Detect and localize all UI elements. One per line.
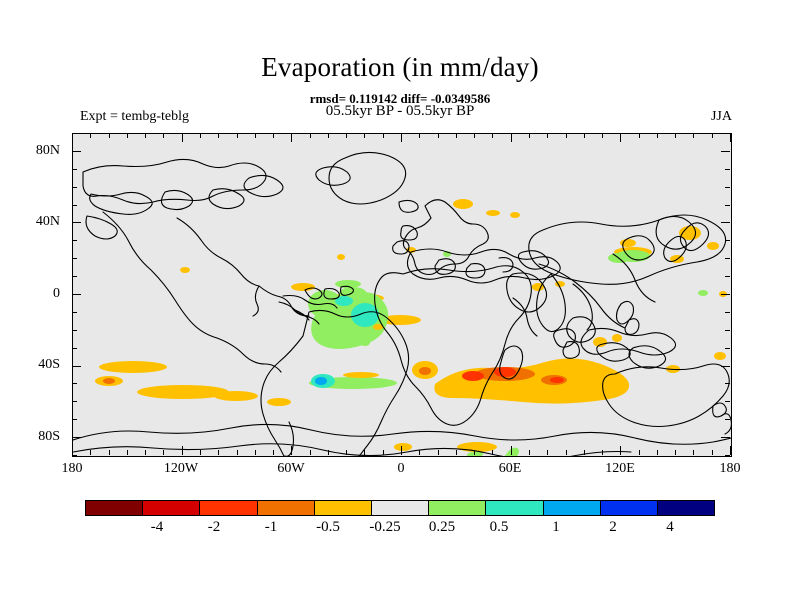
colorbar-segment-1 [142, 501, 199, 515]
colorbar-segment-5 [371, 501, 428, 515]
colorbar-tick--025: -0.25 [355, 519, 415, 535]
ytick--90 [72, 455, 77, 456]
xtick--150 [127, 450, 128, 455]
xtick-top--10 [383, 133, 384, 138]
ytick-right-30 [725, 240, 730, 241]
ytick-right--40 [721, 366, 730, 367]
colorbar-segment-7 [485, 501, 542, 515]
ytick-label-40s: 40S [14, 358, 60, 372]
ytick-80 [72, 151, 81, 152]
xtick-label-0: 0 [366, 462, 436, 476]
ytick--50 [72, 383, 77, 384]
xtick-140 [657, 450, 658, 455]
xtick-30 [456, 450, 457, 455]
ytick-right--30 [725, 348, 730, 349]
xtick-top--90 [237, 133, 238, 138]
xtick-top--100 [218, 133, 219, 138]
xtick-top-170 [712, 133, 713, 138]
xtick--10 [383, 450, 384, 455]
xtick-10 [419, 450, 420, 455]
ytick-label-80s: 80S [14, 430, 60, 444]
colorbar-tick--05: -0.5 [298, 519, 358, 535]
xtick-110 [602, 450, 603, 455]
ytick-right-10 [725, 276, 730, 277]
ytick-60 [72, 187, 77, 188]
xtick-top--160 [109, 133, 110, 138]
ytick-right-80 [721, 151, 730, 152]
world-map [73, 134, 731, 456]
xtick-180 [730, 446, 731, 455]
ytick--20 [72, 330, 77, 331]
ytick-right--80 [721, 437, 730, 438]
xtick-50 [492, 450, 493, 455]
ytick--10 [72, 312, 77, 313]
xtick-top--170 [90, 133, 91, 138]
xtick-130 [639, 450, 640, 455]
xtick--160 [109, 450, 110, 455]
xtick-top--110 [200, 133, 201, 138]
ytick-70 [72, 169, 77, 170]
xtick-top-0 [401, 133, 402, 142]
xtick-top-130 [639, 133, 640, 138]
ytick--60 [72, 401, 77, 402]
xtick-60 [511, 446, 512, 455]
colorbar-tick--4: -4 [127, 519, 187, 535]
xtick-top--120 [182, 133, 183, 142]
xtick--50 [310, 450, 311, 455]
ytick-20 [72, 258, 77, 259]
colorbar-segment-2 [199, 501, 256, 515]
colorbar-segment-4 [314, 501, 371, 515]
colorbar-segment-10 [657, 501, 714, 515]
xtick-top-90 [566, 133, 567, 138]
ytick-right-50 [725, 205, 730, 206]
ytick-right-20 [725, 258, 730, 259]
xtick-top-110 [602, 133, 603, 138]
xtick-70 [529, 450, 530, 455]
map-plot-area [72, 133, 732, 457]
page-title: Evaporation (in mm/day) [0, 52, 800, 83]
ytick-30 [72, 240, 77, 241]
xtick-top-120 [620, 133, 621, 142]
xtick-top-140 [657, 133, 658, 138]
xtick--30 [346, 450, 347, 455]
colorbar-tick-05: 0.5 [469, 519, 529, 535]
xtick-top-70 [529, 133, 530, 138]
xtick-top-40 [474, 133, 475, 138]
ytick-right--70 [725, 419, 730, 420]
xtick--120 [182, 446, 183, 455]
xtick-top--40 [328, 133, 329, 138]
ytick-label-0: 0 [14, 287, 60, 301]
xtick--100 [218, 450, 219, 455]
xtick-80 [547, 450, 548, 455]
xtick-top-30 [456, 133, 457, 138]
colorbar-tick-025: 0.25 [412, 519, 472, 535]
xtick-top--20 [364, 133, 365, 138]
xtick--140 [145, 450, 146, 455]
xtick-top--140 [145, 133, 146, 138]
xtick-top--60 [291, 133, 292, 142]
xtick--70 [273, 450, 274, 455]
ytick-right--10 [725, 312, 730, 313]
colorbar-segment-0 [86, 501, 142, 515]
ytick-right--20 [725, 330, 730, 331]
xtick-40 [474, 450, 475, 455]
xtick-top-180 [730, 133, 731, 142]
ytick-right-70 [725, 169, 730, 170]
colorbar-tick--1: -1 [241, 519, 301, 535]
xtick--40 [328, 450, 329, 455]
xtick-top-60 [511, 133, 512, 142]
xtick-top--70 [273, 133, 274, 138]
colorbar-segment-8 [543, 501, 600, 515]
xtick-top--180 [72, 133, 73, 142]
ytick-right-0 [721, 294, 730, 295]
xtick--20 [364, 450, 365, 455]
xtick-top--80 [255, 133, 256, 138]
colorbar-segment-3 [257, 501, 314, 515]
xtick--110 [200, 450, 201, 455]
ytick-10 [72, 276, 77, 277]
xtick-label-60w: 60W [256, 462, 326, 476]
ytick-90 [72, 133, 77, 134]
ytick-0 [72, 294, 81, 295]
xtick-170 [712, 450, 713, 455]
ytick-right-90 [725, 133, 730, 134]
ytick-40 [72, 222, 81, 223]
xtick--180 [72, 446, 73, 455]
xtick-label-60e: 60E [475, 462, 545, 476]
experiment-label: Expt = tembg-teblg [80, 109, 189, 125]
xtick-20 [438, 450, 439, 455]
ytick-right--90 [725, 455, 730, 456]
ytick-right-60 [725, 187, 730, 188]
xtick-label-180e: 180 [695, 462, 765, 476]
season-label: JJA [711, 109, 732, 125]
xtick-label-120w: 120W [146, 462, 216, 476]
ytick-label-40n: 40N [14, 215, 60, 229]
ytick--80 [72, 437, 81, 438]
xtick-top--30 [346, 133, 347, 138]
xtick-label-180w: 180 [37, 462, 107, 476]
ytick--70 [72, 419, 77, 420]
ytick-right--50 [725, 383, 730, 384]
xtick--130 [163, 450, 164, 455]
xtick-150 [675, 450, 676, 455]
xtick-top--150 [127, 133, 128, 138]
ytick--30 [72, 348, 77, 349]
ytick--40 [72, 366, 81, 367]
colorbar [85, 500, 715, 516]
colorbar-segment-6 [428, 501, 485, 515]
xtick--80 [255, 450, 256, 455]
xtick-top-80 [547, 133, 548, 138]
xtick-top--50 [310, 133, 311, 138]
xtick-top-50 [492, 133, 493, 138]
colorbar-tick-2: 2 [583, 519, 643, 535]
xtick-top-10 [419, 133, 420, 138]
xtick-100 [584, 450, 585, 455]
xtick--170 [90, 450, 91, 455]
xtick-160 [693, 450, 694, 455]
colorbar-tick-1: 1 [526, 519, 586, 535]
colorbar-tick-4: 4 [640, 519, 700, 535]
ytick-label-80n: 80N [14, 144, 60, 158]
xtick-top-100 [584, 133, 585, 138]
xtick-top-20 [438, 133, 439, 138]
ytick-right-40 [721, 222, 730, 223]
xtick-top-150 [675, 133, 676, 138]
xtick-0 [401, 446, 402, 455]
evaporation-anomaly-figure: Evaporation (in mm/day) rmsd= 0.119142 d… [0, 0, 800, 600]
xtick-label-120e: 120E [585, 462, 655, 476]
xtick-top--130 [163, 133, 164, 138]
xtick-top-160 [693, 133, 694, 138]
colorbar-tick--2: -2 [184, 519, 244, 535]
colorbar-segment-9 [600, 501, 657, 515]
xtick--90 [237, 450, 238, 455]
xtick--60 [291, 446, 292, 455]
xtick-120 [620, 446, 621, 455]
ytick-right--60 [725, 401, 730, 402]
ytick-50 [72, 205, 77, 206]
xtick-90 [566, 450, 567, 455]
